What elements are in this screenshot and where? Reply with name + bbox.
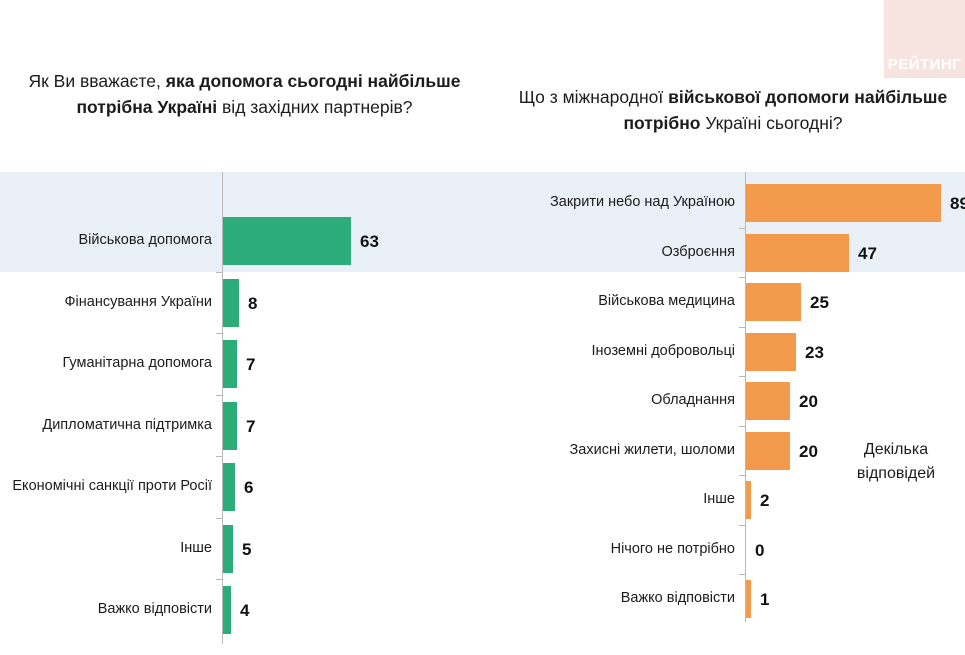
left-chart-title: Як Ви вважаєте, яка допомога сьогодні на… (22, 68, 467, 120)
axis-tick (216, 333, 223, 334)
bar (746, 382, 790, 420)
bar-value-label: 23 (805, 344, 824, 361)
bar-value-label: 2 (760, 492, 769, 509)
axis-tick (739, 574, 746, 575)
bar (223, 463, 235, 511)
category-label: Іноземні добровольці (592, 343, 736, 360)
bar-value-label: 4 (240, 602, 249, 619)
category-label: Інше (180, 540, 212, 557)
axis-tick (216, 518, 223, 519)
bar (223, 217, 351, 265)
bar (223, 340, 237, 388)
axis-tick (216, 456, 223, 457)
category-label: Військова медицина (598, 293, 735, 310)
bar (223, 525, 233, 573)
category-label: Інше (703, 491, 735, 508)
axis-tick (739, 525, 746, 526)
bar (223, 586, 231, 634)
category-label: Дипломатична підтримка (42, 417, 212, 434)
axis-tick (739, 277, 746, 278)
category-label: Гуманітарна допомога (63, 355, 212, 372)
bar (223, 279, 239, 327)
bar (746, 580, 751, 618)
category-label: Важко відповісти (98, 601, 212, 618)
bar (746, 333, 796, 371)
axis-tick (216, 272, 223, 273)
note-line-1: Декілька (832, 438, 960, 462)
rating-group-logo: РЕЙТИНГ (884, 0, 965, 78)
right-title-part1: Що з міжнародної (519, 87, 668, 107)
bar-value-label: 20 (799, 443, 818, 460)
bar (223, 402, 237, 450)
bar-value-label: 7 (246, 418, 255, 435)
axis-tick (739, 228, 746, 229)
left-title-part1: Як Ви вважаєте, (29, 71, 166, 91)
bar-value-label: 8 (248, 295, 257, 312)
bar-value-label: 25 (810, 294, 829, 311)
right-title-part2: Україні сьогодні? (700, 113, 842, 133)
bar-value-label: 20 (799, 393, 818, 410)
category-label: Військова допомога (78, 232, 212, 249)
category-label: Обладнання (651, 392, 735, 409)
category-label: Захисні жилети, шоломи (570, 442, 735, 459)
bar-value-label: 89 (950, 195, 965, 212)
category-label: Озброєння (662, 244, 735, 261)
category-label: Нічого не потрібно (611, 541, 735, 558)
category-label: Закрити небо над Україною (550, 194, 735, 211)
left-bar-chart: Військова допомога63Фінансування України… (0, 172, 480, 655)
infographic-canvas: РЕЙТИНГ Як Ви вважаєте, яка допомога сьо… (0, 0, 965, 655)
bar (746, 432, 790, 470)
bar-value-label: 0 (755, 542, 764, 559)
axis-tick (739, 475, 746, 476)
bar-value-label: 7 (246, 356, 255, 373)
logo-text: РЕЙТИНГ (888, 57, 962, 72)
bar (746, 184, 941, 222)
bar-value-label: 5 (242, 541, 251, 558)
bar (746, 481, 751, 519)
bar-value-label: 6 (244, 479, 253, 496)
bar-value-label: 63 (360, 233, 379, 250)
note-line-2: відповідей (832, 462, 960, 486)
axis-tick (739, 426, 746, 427)
category-label: Важко відповісти (621, 590, 735, 607)
axis-tick (739, 327, 746, 328)
bar-value-label: 1 (760, 591, 769, 608)
axis-tick (739, 376, 746, 377)
right-chart-title: Що з міжнародної військової допомоги най… (512, 84, 954, 136)
category-label: Економічні санкції проти Росії (12, 478, 212, 495)
category-label: Фінансування України (65, 294, 213, 311)
multiple-answers-note: Декілька відповідей (832, 438, 960, 486)
bar (746, 283, 801, 321)
left-title-part2: від західних партнерів? (217, 97, 412, 117)
right-bar-chart: Закрити небо над Україною89Озброєння47Ві… (485, 172, 965, 655)
bar (746, 234, 849, 272)
bar-value-label: 47 (858, 245, 877, 262)
axis-tick (216, 579, 223, 580)
axis-tick (216, 395, 223, 396)
